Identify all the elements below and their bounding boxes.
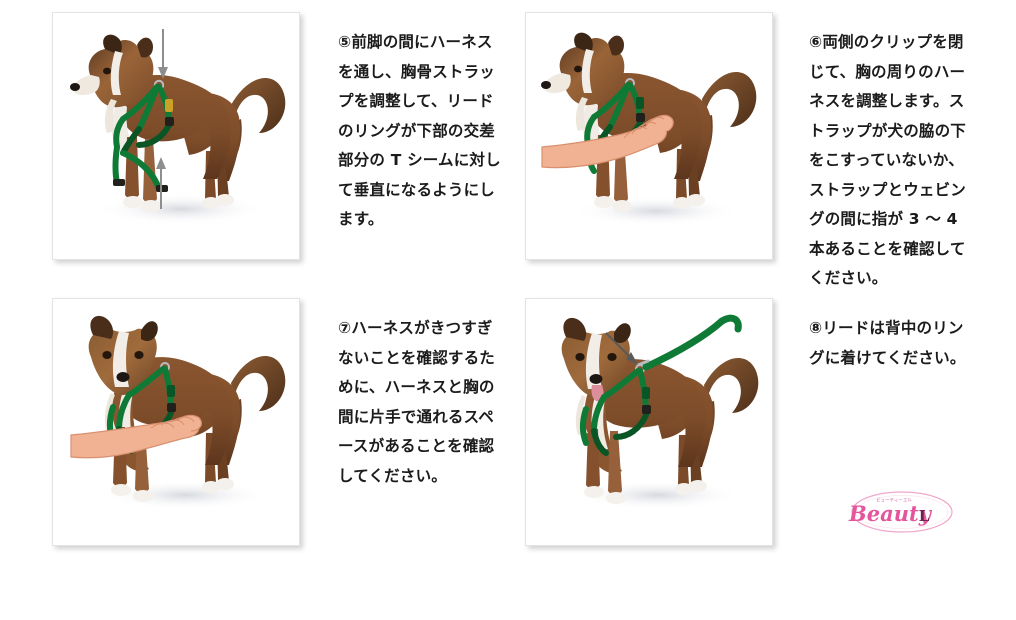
dog-side-view-harness-with-alignment-arrows — [52, 12, 300, 260]
step-8-caption: ⑧リードは背中のリングに着けてください。 — [809, 314, 975, 373]
instruction-step-7: ⑦ハーネスがきつすぎないことを確認するために、ハーネスと胸の間に片手で通れるスペ… — [52, 298, 504, 546]
instruction-sheet-page: ⑤前脚の間にハーネスを通し、胸骨ストラップを調整して、リードのリングが下部の交差… — [0, 0, 1016, 620]
instruction-step-5: ⑤前脚の間にハーネスを通し、胸骨ストラップを調整して、リードのリングが下部の交差… — [52, 12, 504, 260]
instruction-step-6: ⑥両側のクリップを閉じて、胸の周りのハーネスを調整します。ストラップが犬の脇の下… — [525, 12, 975, 294]
dog-front-three-quarter-hand-under-chest-strap — [52, 298, 300, 546]
step-5-caption: ⑤前脚の間にハーネスを通し、胸骨ストラップを調整して、リードのリングが下部の交差… — [338, 28, 504, 235]
dog-with-green-leash-clipped-to-back-ring — [525, 298, 773, 546]
step-6-caption: ⑥両側のクリップを閉じて、胸の周りのハーネスを調整します。ストラップが犬の脇の下… — [809, 28, 975, 294]
beauty-l-brand-logo: ビューティーエル Beauty L — [848, 486, 956, 538]
dog-side-view-hand-adjusting-girth-strap — [525, 12, 773, 260]
step-7-caption: ⑦ハーネスがきつすぎないことを確認するために、ハーネスと胸の間に片手で通れるスペ… — [338, 314, 504, 491]
logo-letter-text: L — [919, 507, 930, 525]
